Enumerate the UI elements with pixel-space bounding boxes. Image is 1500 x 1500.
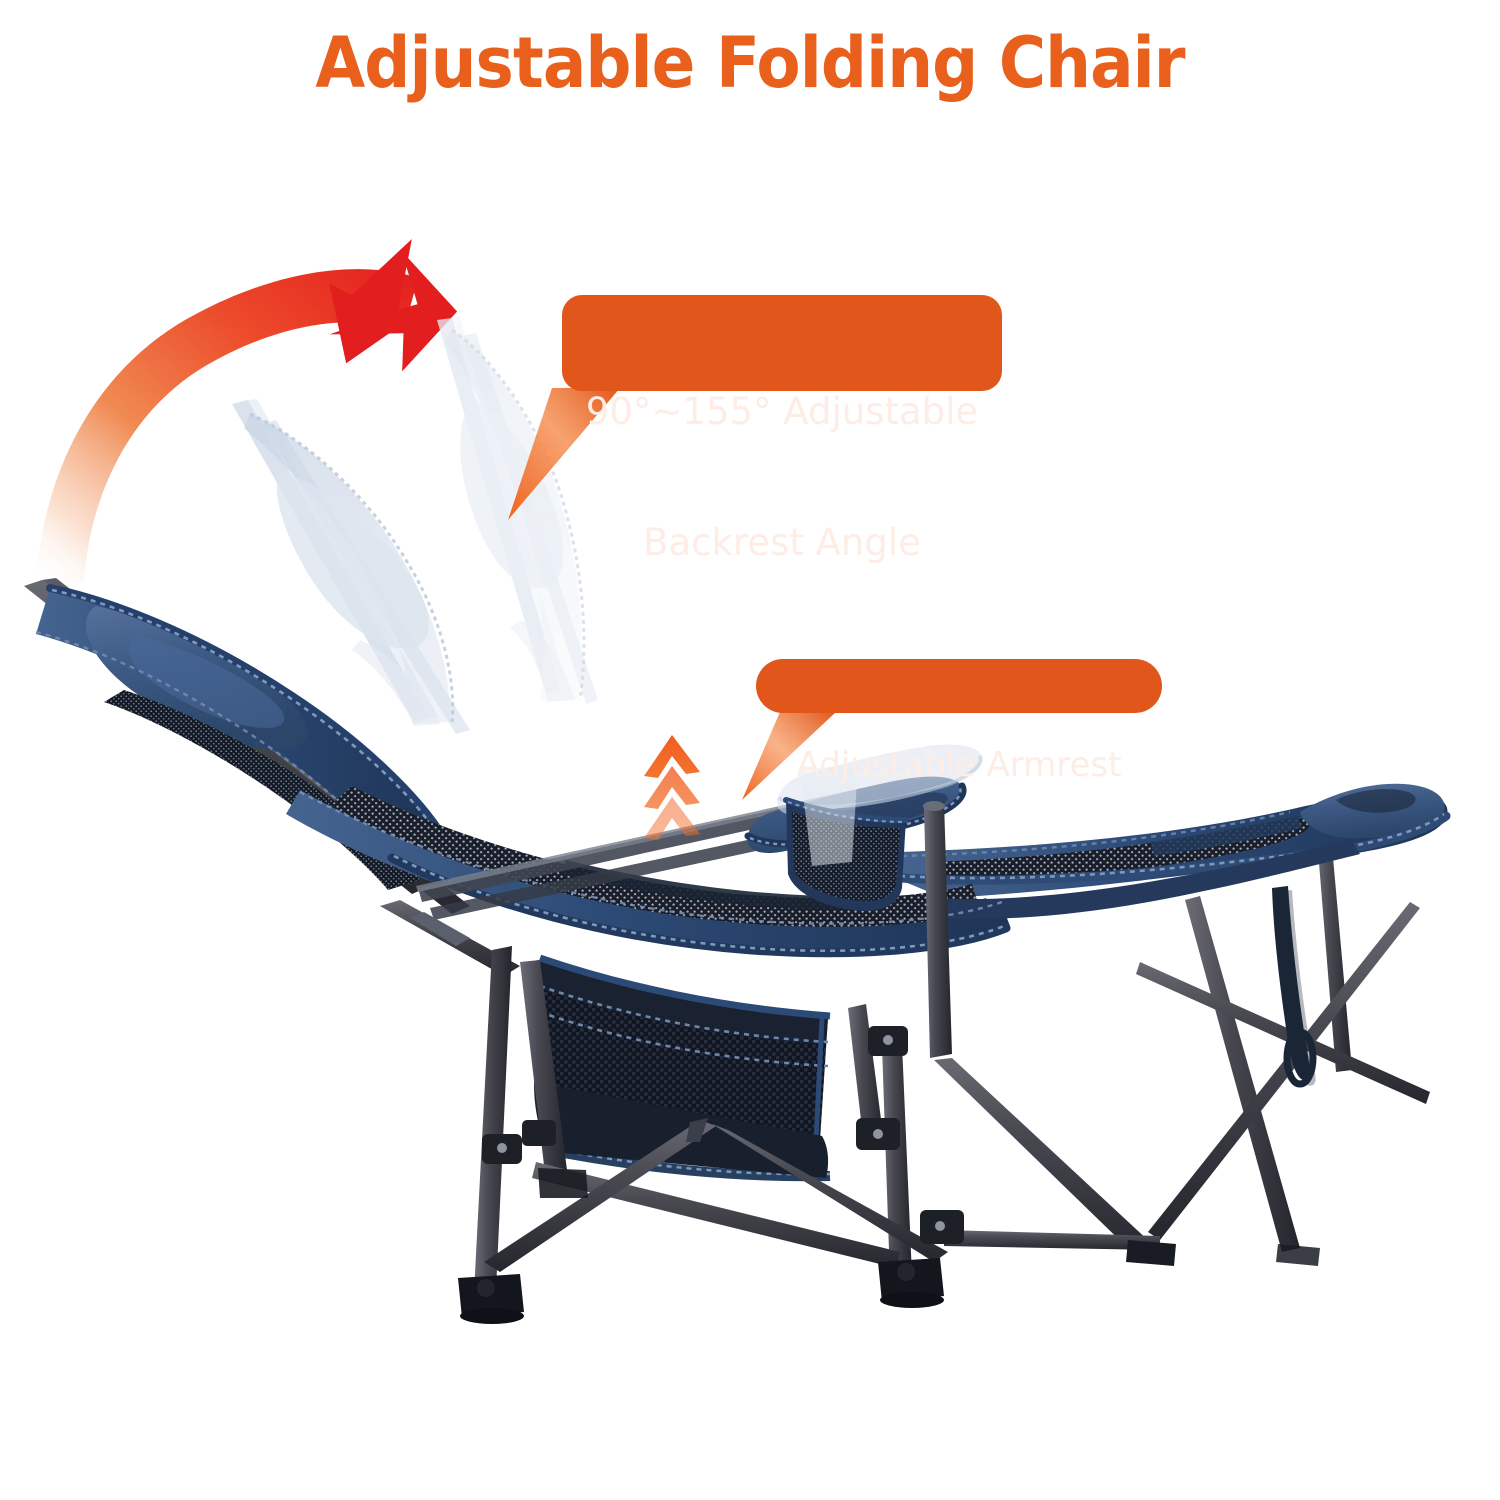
callout-adjustable-armrest[interactable]: Adjustable Armrest bbox=[756, 659, 1162, 713]
chair-foot bbox=[538, 1168, 588, 1198]
callout-backrest-line1: 90°~155° Adjustable bbox=[562, 390, 1002, 434]
callout-armrest-line1: Adjustable Armrest bbox=[756, 745, 1162, 785]
product-illustration bbox=[0, 0, 1500, 1500]
callout-backrest-angle[interactable]: 90°~155° Adjustable Backrest Angle bbox=[562, 295, 1002, 391]
chair-foot bbox=[458, 1274, 524, 1324]
chevron-up-stack-icon bbox=[644, 735, 700, 840]
chair-foot bbox=[878, 1258, 944, 1308]
infographic-canvas: Adjustable Folding Chair bbox=[0, 0, 1500, 1500]
chair-foot bbox=[1276, 1244, 1320, 1266]
chair-foot bbox=[1126, 1240, 1176, 1266]
callout-backrest-line2: Backrest Angle bbox=[562, 521, 1002, 565]
